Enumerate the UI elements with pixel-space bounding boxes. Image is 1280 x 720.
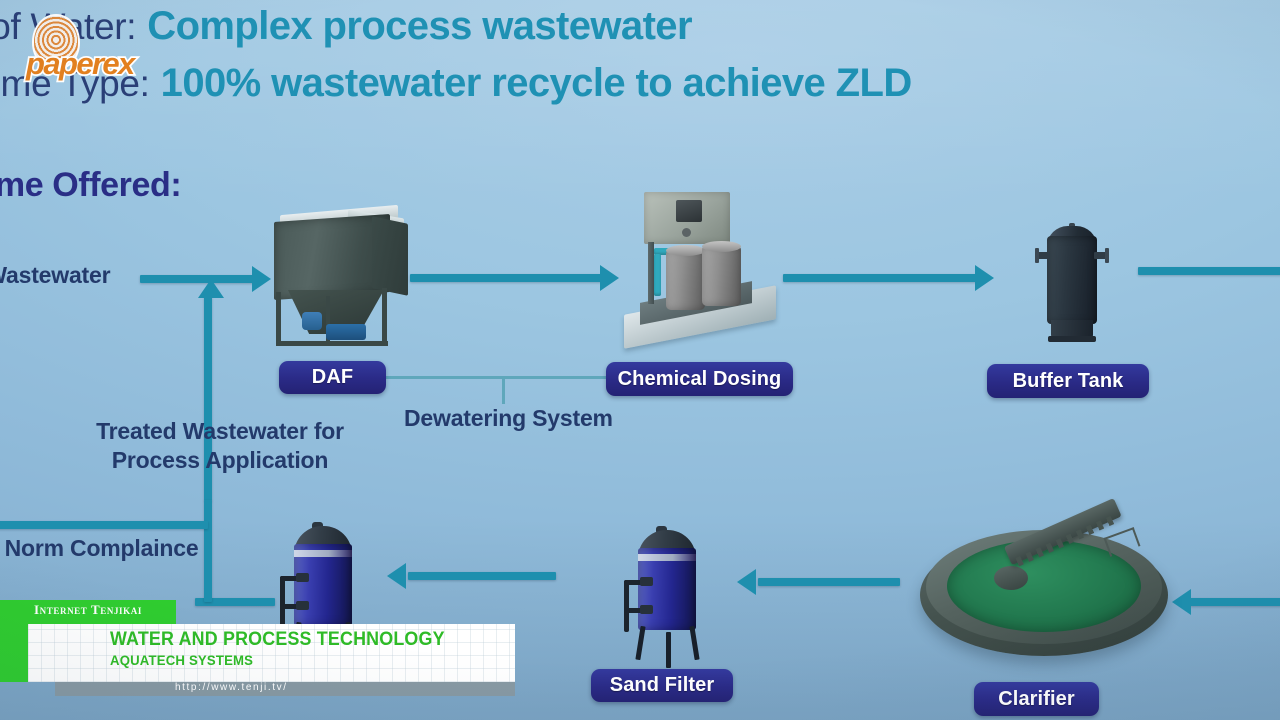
node-label-sand-filter-text: Sand Filter [610, 674, 714, 697]
buffer-tank-flange-right [1105, 248, 1109, 263]
sand-filter-collar [638, 554, 696, 561]
node-label-buffer-tank-text: Buffer Tank [1013, 370, 1124, 393]
sand-filter-valve-lower [640, 605, 653, 614]
flow-arrow-sand-to-carbon-filter [387, 563, 406, 589]
overlay-subtitle-text: AQUATECH SYSTEMS [110, 652, 253, 668]
header-line-scheme-type: heme Type: 100% wastewater recycle to ac… [0, 61, 1160, 106]
equipment-sand-filter [612, 522, 724, 674]
header-line-type-of-water: e of Water: Complex process wastewater [0, 4, 1160, 49]
dosing-panel-display [676, 200, 702, 222]
flow-text-inlet: ss Wastewater [0, 262, 110, 289]
equipment-daf-unit [266, 196, 411, 348]
node-label-daf-text: DAF [312, 366, 353, 389]
equipment-chemical-dosing-skid [620, 188, 790, 350]
paperex-logo-wordmark: paperex [26, 46, 134, 82]
node-label-chemical-dosing[interactable]: Chemical Dosing [606, 362, 793, 396]
node-label-chemical-dosing-text: Chemical Dosing [618, 368, 782, 391]
flow-line-right-edge-to-clarifier [1190, 598, 1280, 606]
header-value-type-of-water: Complex process wastewater [147, 4, 692, 49]
buffer-tank-flange-left [1035, 248, 1039, 263]
node-label-buffer-tank[interactable]: Buffer Tank [987, 364, 1149, 398]
flow-line-daf-to-chemical [410, 274, 605, 282]
flow-arrow-recycle-riser [198, 279, 224, 298]
overlay-url-text: http://www.tenji.tv/ [175, 682, 288, 693]
flow-line-chemical-to-buffer [783, 274, 978, 282]
flow-text-dewatering-system: Dewatering System [404, 405, 613, 432]
page-title: heme Offered: [0, 166, 181, 205]
overlay-channel-bar: Internet Tenjikai [0, 600, 176, 624]
overlay-title-text: WATER AND PROCESS TECHNOLOGY [110, 629, 445, 651]
slide-canvas: e of Water: Complex process wastewater h… [0, 0, 1280, 720]
equipment-buffer-tank [1035, 222, 1111, 350]
overlay-url-bar: http://www.tenji.tv/ [55, 682, 515, 696]
flow-text-pcb-norm: B Norm Complaince [0, 535, 198, 562]
node-label-daf[interactable]: DAF [279, 361, 386, 394]
equipment-clarifier [920, 528, 1168, 676]
flow-line-buffer-to-right-edge [1138, 267, 1280, 275]
broadcast-overlay: Internet Tenjikai WATER AND PROCESS TECH… [0, 600, 515, 696]
sand-filter-leg-center [666, 632, 671, 668]
flow-line-treated-riser [204, 500, 212, 602]
clarifier-center-hub [994, 566, 1028, 590]
dosing-panel-knob [682, 228, 691, 237]
node-label-clarifier[interactable]: Clarifier [974, 682, 1099, 716]
flow-line-pcb-norm [0, 521, 208, 529]
carbon-filter-collar [294, 550, 352, 557]
buffer-tank-shell [1047, 236, 1097, 324]
sand-filter-leg-right [689, 626, 699, 660]
paperex-logo: paperex [26, 16, 172, 88]
daf-pump [326, 324, 366, 340]
daf-motor [302, 312, 322, 330]
sand-filter-valve-upper [640, 577, 653, 586]
connector-dewatering-vertical [502, 376, 505, 404]
dosing-tank-left [666, 250, 705, 310]
flow-line-clarifier-to-sand-filter [758, 578, 900, 586]
dosing-pipe-drop-outer [654, 254, 661, 296]
daf-frame-base [276, 341, 388, 346]
flow-arrow-chemical-to-buffer [975, 265, 994, 291]
dosing-tank-right [702, 246, 741, 306]
flow-arrow-right-edge-to-clarifier [1172, 589, 1191, 615]
daf-tank-side [372, 216, 408, 296]
header-value-scheme-type: 100% wastewater recycle to achieve ZLD [161, 61, 912, 106]
overlay-channel-text: Internet Tenjikai [34, 602, 142, 618]
carbon-filter-valve-upper [296, 573, 309, 582]
sand-filter-riser-pipe [624, 580, 629, 632]
connector-dewatering-horizontal [386, 376, 608, 379]
node-label-sand-filter[interactable]: Sand Filter [591, 669, 733, 702]
flow-text-treated-wastewater: Treated Wastewater for Process Applicati… [90, 417, 350, 475]
node-label-clarifier-text: Clarifier [998, 688, 1075, 711]
buffer-tank-base [1048, 336, 1096, 342]
flow-arrow-daf-to-chemical [600, 265, 619, 291]
daf-frame-leg-left [276, 292, 281, 346]
sand-filter-leg-left [635, 626, 645, 660]
daf-frame-leg-right [382, 288, 387, 344]
flow-line-sand-to-carbon-filter [408, 572, 556, 580]
slide-header: e of Water: Complex process wastewater h… [0, 4, 1160, 106]
flow-arrow-clarifier-to-sand-filter [737, 569, 756, 595]
